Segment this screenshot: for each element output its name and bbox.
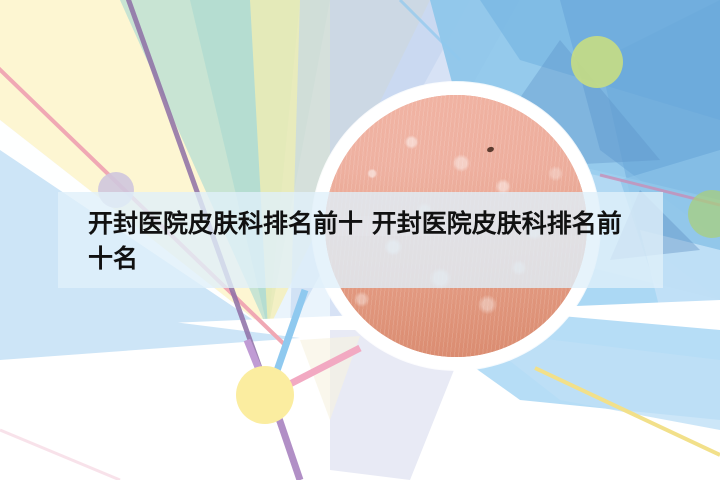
poster-canvas: 开封医院皮肤科排名前十 开封医院皮肤科排名前十名 (0, 0, 720, 480)
page-title: 开封医院皮肤科排名前十 开封医院皮肤科排名前十名 (88, 206, 633, 276)
yellow-dot-circle (236, 366, 294, 424)
green-dot-top-circle (571, 36, 623, 88)
headline-overlay-panel: 开封医院皮肤科排名前十 开封医院皮肤科排名前十名 (58, 192, 663, 288)
